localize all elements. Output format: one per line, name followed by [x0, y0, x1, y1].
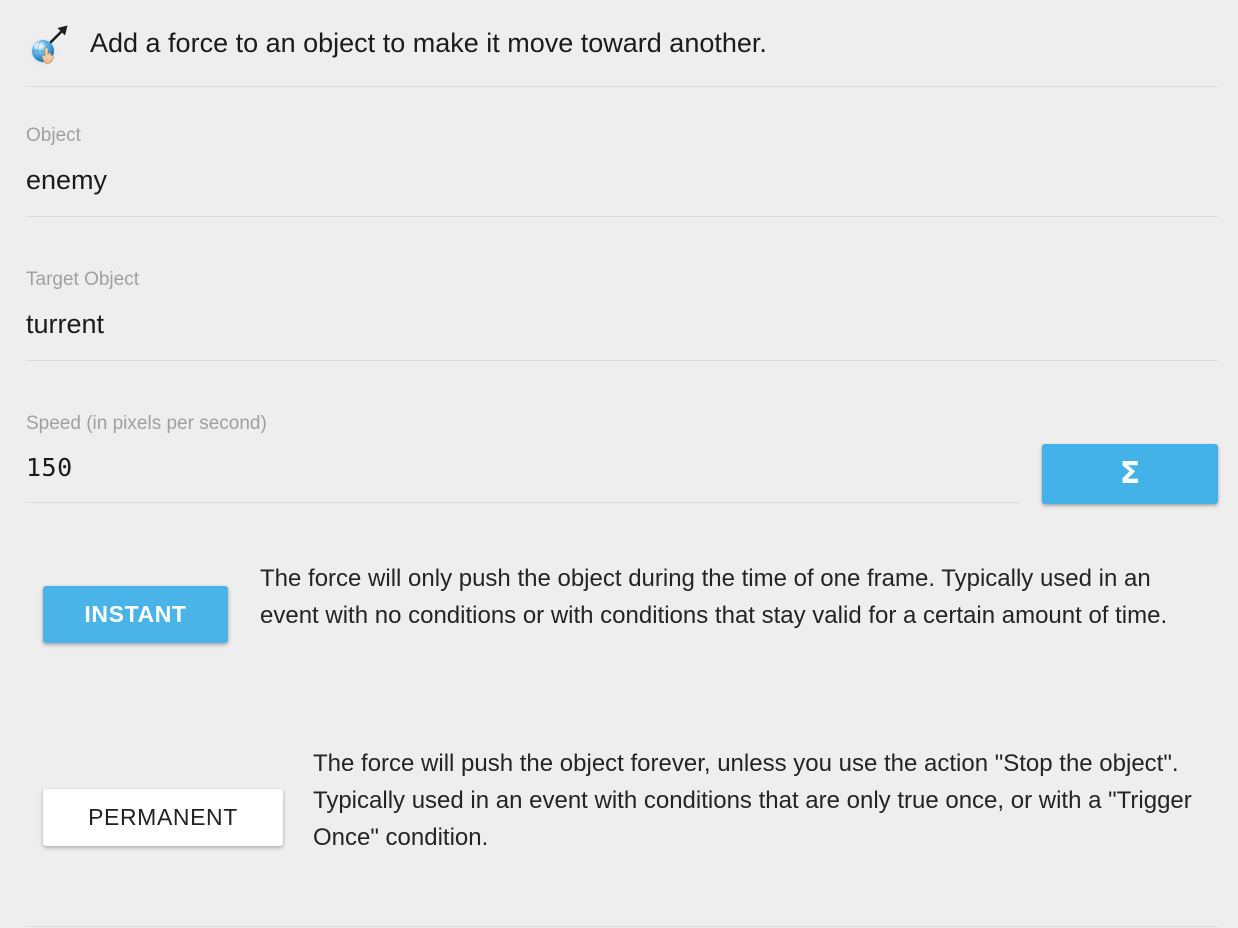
field-speed-value[interactable]: 150	[26, 451, 267, 485]
field-target-object-underline	[26, 360, 1218, 361]
header-divider	[26, 86, 1218, 87]
footer-divider	[26, 926, 1218, 927]
mode-description-permanent: The force will push the object forever, …	[313, 745, 1193, 856]
field-object[interactable]: Object enemy	[26, 125, 107, 197]
field-object-underline	[26, 216, 1218, 217]
page-title: Add a force to an object to make it move…	[90, 27, 767, 59]
field-target-object[interactable]: Target Object turrent	[26, 269, 139, 341]
mode-description-instant: The force will only push the object duri…	[260, 560, 1200, 634]
mode-button-permanent[interactable]: PERMANENT	[43, 789, 283, 846]
field-object-label: Object	[26, 125, 107, 147]
expression-editor-button[interactable]: Σ	[1042, 444, 1218, 504]
field-target-object-label: Target Object	[26, 269, 139, 291]
action-header: Add a force to an object to make it move…	[0, 0, 1238, 86]
field-speed-label: Speed (in pixels per second)	[26, 413, 267, 435]
field-speed[interactable]: Speed (in pixels per second) 150	[26, 413, 267, 485]
field-object-value[interactable]: enemy	[26, 163, 107, 197]
field-target-object-value[interactable]: turrent	[26, 307, 139, 341]
mode-button-instant[interactable]: INSTANT	[43, 586, 228, 643]
field-speed-underline	[26, 502, 1020, 503]
add-force-toward-object-icon	[26, 21, 72, 67]
